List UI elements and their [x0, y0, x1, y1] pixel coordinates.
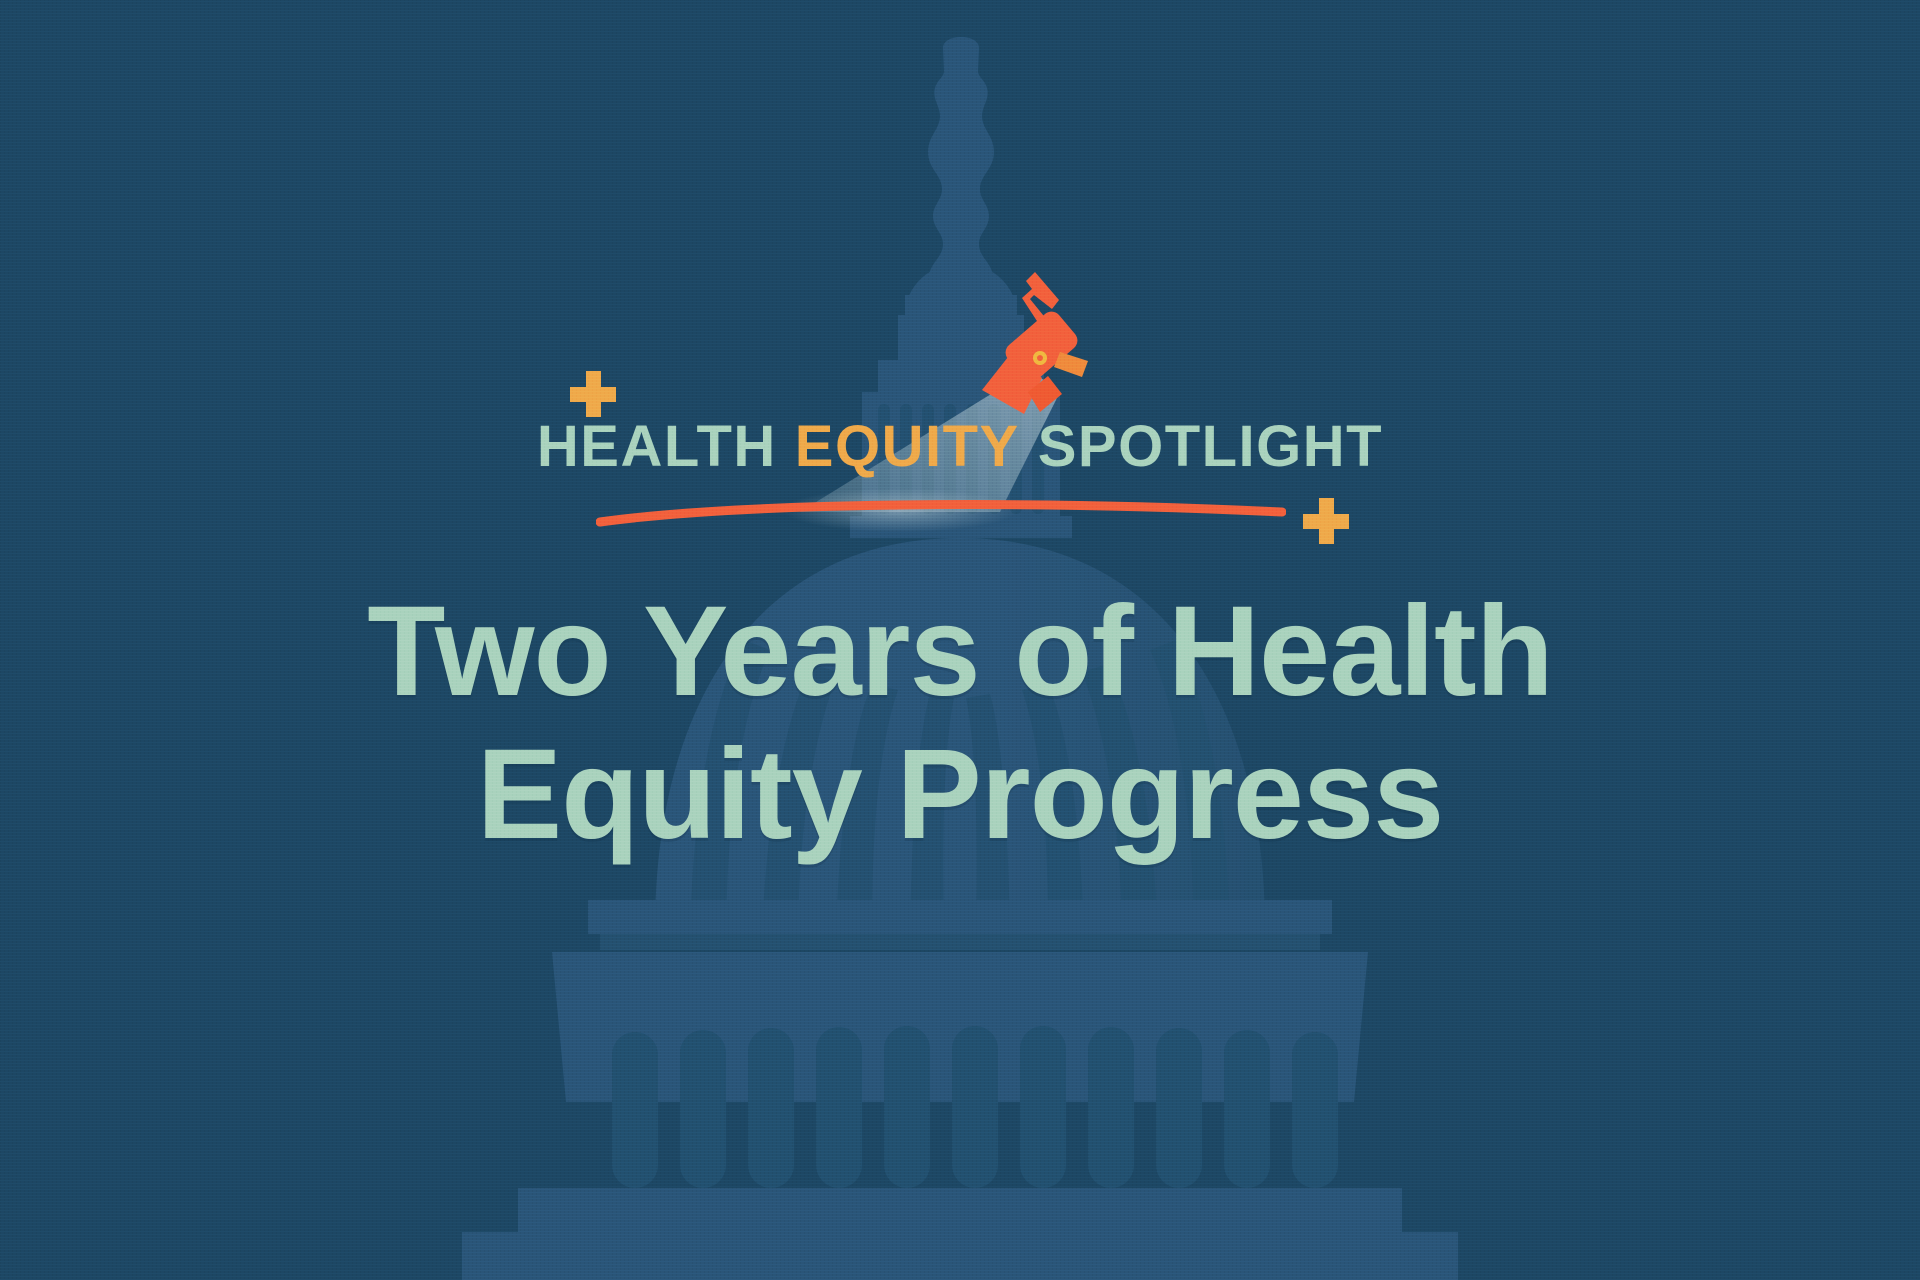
- lamp-arm: [1054, 352, 1088, 377]
- page-title-line-2: Equity Progress: [0, 723, 1920, 866]
- logo-word-equity: EQUITY: [795, 414, 1020, 479]
- brand-logo: HEALTHEQUITYSPOTLIGHT: [0, 418, 1920, 476]
- poster-canvas: HEALTHEQUITYSPOTLIGHT Two Years of Healt…: [0, 0, 1920, 1280]
- logo-word-health: HEALTH: [537, 414, 777, 479]
- plus-decoration-top-left: [570, 371, 616, 417]
- logo-wordmark: HEALTHEQUITYSPOTLIGHT: [537, 418, 1383, 476]
- page-title: Two Years of Health Equity Progress: [0, 580, 1920, 867]
- plus-decoration-bottom-right: [1303, 498, 1349, 544]
- page-title-line-1: Two Years of Health: [0, 580, 1920, 723]
- spotlight-lamp: [982, 272, 1088, 414]
- logo-word-spotlight: SPOTLIGHT: [1038, 414, 1383, 479]
- lamp-pivot-center: [1037, 355, 1043, 361]
- logo-underline-swoosh: [596, 492, 1286, 532]
